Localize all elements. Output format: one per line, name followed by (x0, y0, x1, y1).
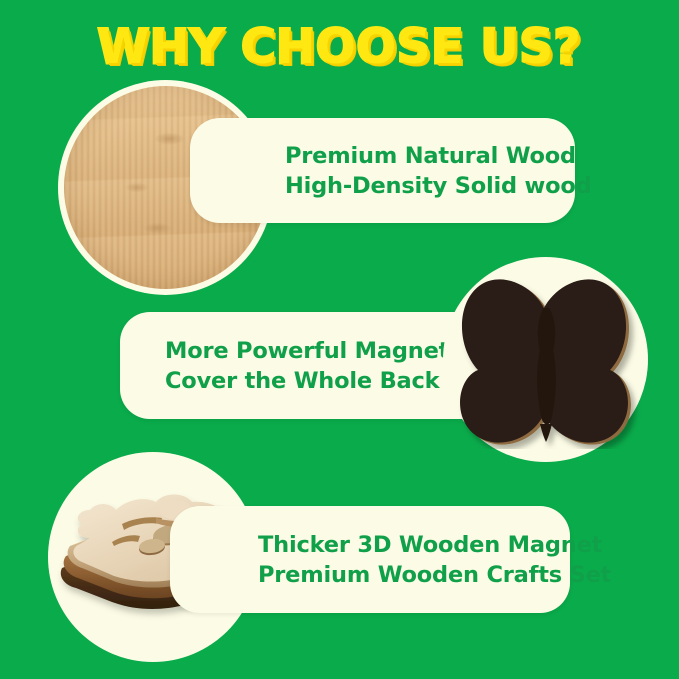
feature-3-line-2: Premium Wooden Crafts Set (258, 560, 570, 590)
feature-1-line-2: High-Density Solid wood (285, 171, 575, 201)
why-choose-us-poster: WHY CHOOSE US? Premium Natural Wood High… (0, 0, 679, 679)
feature-3-line-1: Thicker 3D Wooden Magnet (258, 530, 570, 560)
feature-card-thicker-3d-wooden-magnet: Thicker 3D Wooden Magnet Premium Wooden … (170, 506, 570, 613)
feature-card-premium-natural-wood: Premium Natural Wood High-Density Solid … (190, 118, 575, 223)
feature-1-line-1: Premium Natural Wood (285, 141, 575, 171)
page-title: WHY CHOOSE US? (0, 20, 679, 76)
butterfly-magnet-image (452, 274, 642, 449)
